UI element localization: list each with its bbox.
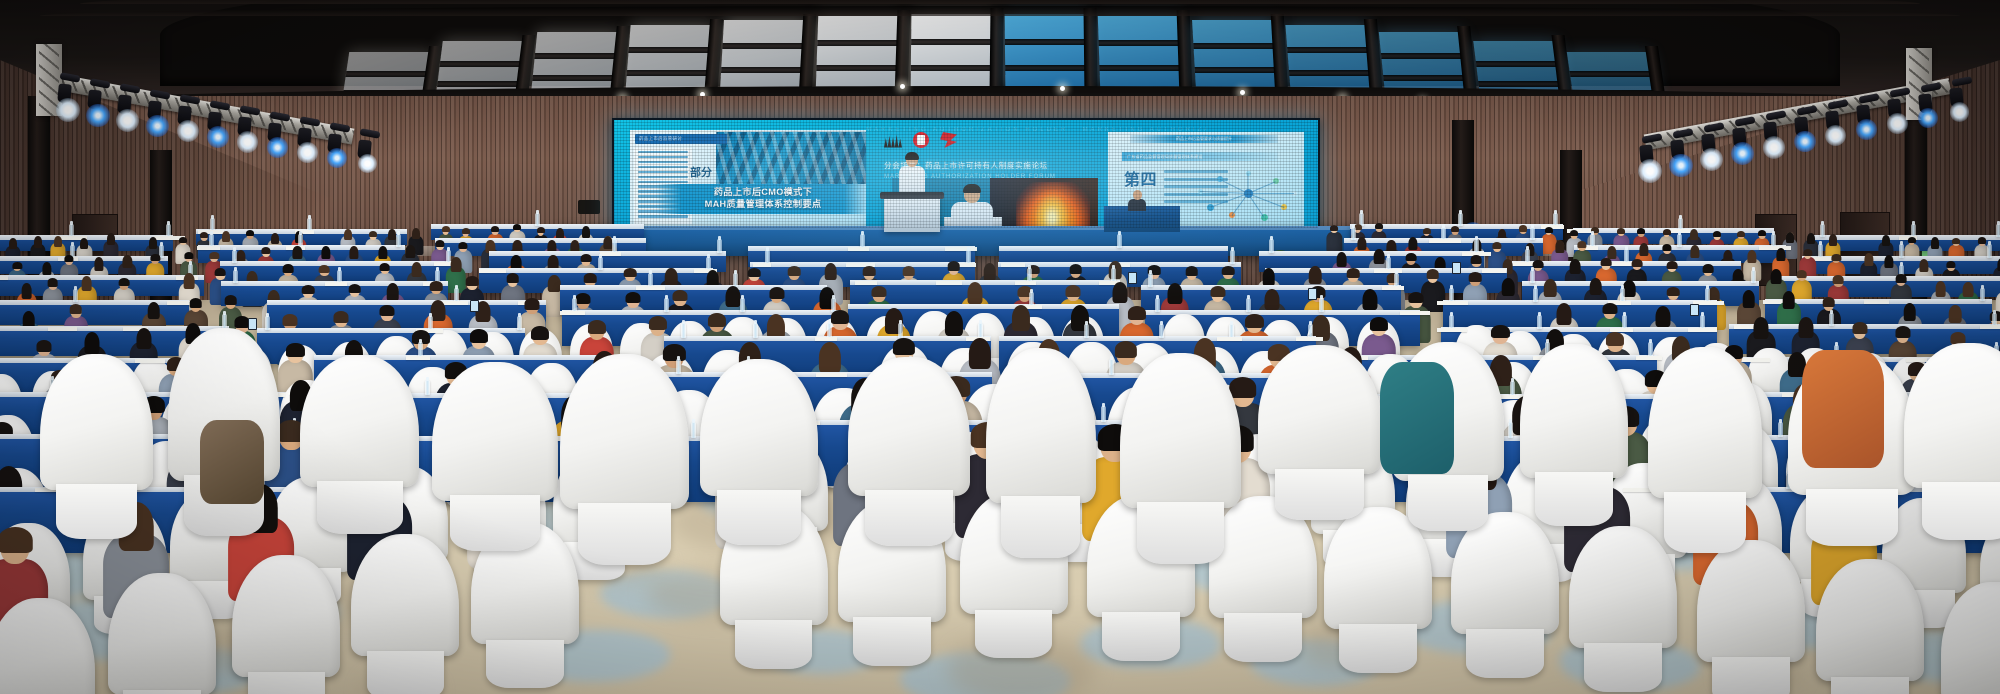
audience-member-hair [1330,225,1338,231]
smartphone-icon [248,318,257,330]
water-bottle [978,323,983,338]
water-bottle [1622,315,1627,329]
red-circle-emblem-icon [913,132,929,148]
water-bottle [717,239,722,252]
audience-member-hair [388,229,396,240]
audience-member-hair [1606,332,1624,346]
audience-member-hair [1690,229,1698,240]
led-surface: MARKETING AUTHORIZATION HOLDER · MARKETI… [614,120,1318,228]
audience-member-hair [1829,234,1837,245]
audience-member-hair [575,293,590,304]
water-bottle [1111,268,1116,282]
slide-title-line-1: 药品上市后CMO模式下 [656,187,866,199]
audience-member-hair [649,316,667,330]
water-bottle [1101,406,1106,422]
white-lectern [884,196,940,232]
audience-member-hair [349,246,358,259]
audience-member-hair [1885,255,1894,268]
audience-member-hair [200,232,208,238]
audience-member-hair [95,257,104,270]
water-bottle [612,239,617,252]
audience-member-hair [1713,231,1721,237]
phoenix-flame-graphic-icon [1016,182,1090,230]
water-bottle [1508,422,1513,438]
audience-member-hair [189,298,202,308]
audience-member-hair [1229,377,1257,398]
audience-member-hair [1852,322,1867,333]
audience-member-hair [1978,237,1986,243]
audience-member-hair [466,276,479,286]
audience-member-hair [435,240,444,247]
audience-member-hair [1637,228,1645,234]
document-paper [479,269,506,273]
audience-member-hair [1570,230,1578,236]
lectern-laptop [880,192,944,199]
skylight-panel [910,14,995,90]
audience-member-hair [513,224,521,230]
audience-member-hair [107,233,115,244]
stage-light-blue-icon [1669,154,1693,178]
document-paper [197,246,220,250]
water-bottle [765,250,770,264]
ceiling-beam [989,8,1003,96]
audience-member-hair [1882,235,1890,246]
audience-member-hair [969,338,991,370]
audience-member-hair [0,527,32,553]
audience-member-hair [1786,232,1794,243]
water-bottle [681,323,686,338]
audience-member-hair [1796,270,1807,278]
water-bottle [1027,268,1032,282]
audience-member-hair [286,343,304,357]
skylight-panel [625,25,714,92]
audience-member-hair [788,266,801,276]
slide-section-marker: 部分 [690,164,712,180]
banquet-table [267,300,546,330]
ceiling-downlight [1060,86,1065,91]
audience-member-hair [13,262,22,269]
smartphone-icon [1308,288,1317,300]
audience-member-hair [1570,259,1581,274]
ceiling-beam [894,10,910,95]
audience-member-hair [1362,289,1377,310]
audience-member-hair [450,257,461,272]
water-bottle [1700,315,1705,329]
slide-header-tag-text: 药品上市后监管研讨 [635,134,727,144]
skylight-panel [720,20,808,90]
document-paper [1437,328,1467,332]
water-bottle [831,298,836,312]
audience-member-hair [1667,287,1680,297]
water-bottle [1029,292,1034,306]
slide-title-line-2: MAH质量管理体系控制要点 [656,199,866,211]
audience-member-hair [271,233,279,244]
audience-member-hair [1555,240,1564,253]
audience-member-hair [136,328,151,349]
audience-member-hair [588,320,606,334]
audience-member-hair [1776,248,1785,261]
skylight-panel [1285,25,1374,92]
document-paper [816,373,847,377]
audience-member-hair [1771,269,1782,284]
audience-member-hair [1374,249,1385,264]
draped-bag [200,420,264,504]
audience-member-hair [537,227,545,233]
audience-member-hair [1832,254,1841,261]
water-bottle [860,234,865,247]
audience-member-hair [1357,237,1366,250]
audience-member-hair [548,275,561,293]
audience-member-hair [54,236,62,247]
document-paper [1636,356,1662,360]
audience-member-hair [1947,261,1956,268]
audience-member-hair [506,273,519,283]
water-bottle [1148,273,1153,287]
network-edge [1248,174,1249,194]
water-bottle [1458,213,1463,226]
audience-member-hair [824,263,837,281]
audience-member-hair [1602,303,1617,314]
smartphone-icon [1690,304,1699,316]
stage-front-lip [560,226,1380,230]
audience-member-hair [1347,268,1360,278]
audience-member-hair [34,236,42,247]
water-bottle [1308,324,1313,339]
audience-member-hair [215,268,226,276]
audience-member-hair [1519,225,1527,231]
audience-member-hair [1545,227,1553,233]
document-paper [560,311,584,315]
audience-member-hair [1012,305,1030,331]
audience-member-hair [1663,229,1671,235]
document-paper [0,276,8,280]
audience-member-hair [9,238,17,249]
audience-member-hair [458,242,467,249]
water-bottle [1537,315,1542,329]
audience-member-hair [1069,264,1082,274]
audience-member-hair [1115,341,1137,358]
left-presentation-slide: 药品上市后监管研讨 部分 药品上市后CMO模式下 MAH质量管理体系控制要点 [630,130,866,226]
audience-member-hair [261,247,270,254]
audience-member-hair [1577,241,1586,248]
water-bottle [1820,224,1825,237]
audience-member-hair [831,310,849,324]
audience-member-hair [1557,303,1572,324]
table-top-cloth [999,246,1228,251]
document-paper [1429,239,1460,243]
water-bottle [1229,324,1234,339]
audience-member-hair [1753,317,1768,338]
water-bottle [966,250,971,264]
audience-member-hair [1113,282,1128,303]
banquet-chair [1569,526,1677,648]
audience-member-hair [123,255,132,268]
document-paper [1015,281,1035,285]
document-paper [936,281,962,285]
water-bottle [1117,234,1122,247]
audience-member-hair [625,292,640,303]
audience-member-hair [1663,244,1672,251]
document-paper [1296,337,1324,341]
audience-member-hair [491,226,499,232]
slide-title-block: 药品上市后CMO模式下 MAH质量管理体系控制要点 [656,184,866,214]
audience-member-hair [1491,325,1509,339]
audience-member-hair [222,231,230,242]
conference-hall-photo: MARKETING AUTHORIZATION HOLDER · MARKETI… [0,0,2000,694]
audience-member-hair [1798,317,1813,338]
wall-speaker [578,200,600,214]
water-bottle [454,288,459,302]
foreground-banquet-chair [848,357,970,496]
water-bottle [898,323,903,338]
table-top-cloth [1443,300,1717,305]
audience-member-hair [1903,303,1916,321]
audience-member-hair [1822,297,1835,307]
audience-member-hair [1691,245,1700,258]
water-bottle [233,270,238,284]
audience-member-hair [430,281,443,291]
audience-member-hair [379,263,390,271]
network-edge [1248,193,1294,194]
audience-member-hair [863,266,876,276]
audience-member-hair [1920,259,1929,272]
water-bottle [1109,359,1114,374]
audience-member-hair [1833,275,1844,283]
audience-member-hair [1748,250,1757,263]
water-bottle [598,257,603,271]
water-bottle [428,316,433,330]
audience-member-hair [246,230,254,236]
moderator-body [1128,199,1146,211]
water-bottle [676,359,681,374]
audience-member-hair [387,283,400,301]
audience-member-hair [1222,266,1235,276]
stage-light-blue-icon [86,104,110,128]
audience-member-hair [319,265,330,273]
table-top-cloth [0,275,204,280]
audience-member-hair [1666,261,1677,269]
audience-member-hair [412,228,420,239]
water-bottle [1980,288,1985,302]
audience-member-hair [1469,272,1482,282]
stage-light-blue-icon [1731,142,1754,165]
water-bottle [1899,244,1904,257]
stage-light-blue-icon [207,126,229,148]
audience-member-hair [1471,255,1482,263]
audience-member-hair [64,255,73,262]
skylight-panel [1379,32,1469,96]
audience-member-hair [968,282,983,303]
audience-member-hair [1632,259,1643,267]
audience-member-hair [406,245,415,258]
skylight-panel [1005,14,1090,90]
audience-member-hair [322,246,331,259]
main-led-wall: MARKETING AUTHORIZATION HOLDER · MARKETI… [612,118,1320,230]
network-node-diagram-icon [1196,167,1300,225]
audience-member-hair [1589,278,1602,296]
smartphone-icon [1452,262,1461,274]
audience-member-hair [80,238,88,249]
water-bottle [1510,381,1515,396]
water-bottle [337,270,342,284]
audience-member-hair [708,313,726,327]
audience-member-hair [179,237,187,243]
audience-member-hair [119,278,130,286]
ceiling-downlight [900,84,905,89]
water-bottle [425,380,430,395]
led-logo-row [884,132,957,148]
stage-light-blue-icon [1856,119,1877,140]
audience-member-hair [524,298,539,309]
audience-member-hair [462,228,470,234]
audience-member-hair [665,268,678,286]
audience-member-hair [1908,237,1916,243]
audience-member-hair [1533,260,1544,268]
audience-member-hair [184,273,195,288]
water-bottle [1246,298,1251,312]
slide-photo-banner [716,132,866,184]
audience-member-hair [37,340,52,351]
audience-member-hair [42,262,51,275]
red-flame-emblem-icon [940,132,957,148]
document-paper [815,337,837,341]
document-paper [406,356,431,360]
audience-member-hair [1375,223,1383,229]
document-paper [1864,300,1889,304]
audience-member-hair [1742,290,1755,308]
audience-member-hair [1265,289,1280,310]
document-paper [1400,311,1430,315]
water-bottle [572,298,577,312]
audience-member-hair [369,231,377,237]
audience-member-hair [1931,237,1939,248]
audience-member-hair [1066,285,1081,296]
stage-light-blue-icon [1794,131,1816,153]
audience-member-hair [1895,326,1910,337]
audience-member-hair [344,229,352,240]
audience-member [1327,225,1343,252]
audience-member-hair [1703,264,1714,272]
audience-member-hair [302,285,315,295]
audience-member-hair [1336,252,1347,267]
water-bottle [827,323,832,338]
smartphone-icon [1128,272,1137,284]
audience-member-hair [1896,274,1907,282]
audience-member-hair [663,344,685,361]
audience-member-hair [1949,305,1962,323]
audience-member-hair [1492,242,1501,249]
audience-member-hair [1758,230,1766,236]
audience-member-hair [584,273,597,283]
audience-member-hair [1185,266,1198,276]
audience-member-hair [411,262,422,277]
audience-member-hair [1370,317,1388,331]
audience-member-hair [1544,279,1557,297]
audience-member-hair [1656,306,1671,327]
audience-member-hair [624,268,637,278]
stage-light-white-icon [358,154,378,174]
skylight-panel [1192,20,1280,90]
document-paper [945,247,977,251]
audience-member-hair [1601,258,1612,266]
audience-member-hair [1782,291,1795,309]
water-bottle [418,342,423,357]
audience-member-hair [871,286,886,297]
stage-light-white-icon [1950,102,1970,122]
moderator-person [1128,190,1146,210]
audience-member-hair [1639,243,1648,256]
live-feed-speaker-hair [963,184,981,193]
water-bottle [1677,234,1682,247]
audience-member-hair [210,252,219,259]
water-bottle [1449,315,1454,329]
audience-member-hair [769,287,784,298]
water-bottle [1155,298,1160,312]
audience-member-hair [945,311,963,337]
audience-member-hair [70,304,83,314]
document-paper [1382,286,1403,290]
foreground-banquet-chair [1258,345,1381,473]
audience-member-hair [1963,282,1974,297]
audience-member-hair [902,266,915,276]
audience-member-hair [673,290,688,301]
banquet-chair [1816,559,1924,681]
ceiling-downlight [1240,90,1245,95]
audience-member-hair [1803,249,1812,256]
organizer-logo-mark-icon [884,133,902,148]
network-edge [1200,191,1248,194]
stage-light-blue-icon [267,137,288,158]
draped-coat [1802,350,1884,468]
document-paper [855,281,877,285]
audience-member-hair [293,246,302,259]
skylight-panel [815,16,901,89]
stage-light-blue-icon [1918,108,1938,128]
water-bottle [1530,227,1535,240]
ceiling-arc-rail [80,0,1920,4]
water-bottle [1530,270,1535,284]
water-bottle [740,298,745,312]
water-bottle [1987,244,1992,257]
water-bottle [1394,273,1399,287]
document-paper [48,327,77,331]
audience-member-hair [1210,286,1225,297]
audience-member-body [1327,232,1342,252]
water-bottle [1319,298,1324,312]
document-paper [848,247,869,251]
water-bottle [1159,324,1164,339]
audience-member-hair [1245,314,1263,328]
moderator-head [1133,190,1142,200]
skylight-panel [1098,16,1184,89]
smartphone-icon [470,300,479,312]
audience-member-hair [1408,292,1423,303]
ceiling-beam [1084,8,1098,96]
session-line-text: 分会场二：药品上市许可持有人制度实施论坛 [884,160,1184,171]
audience-member-hair [819,342,841,374]
water-bottle [1474,239,1479,252]
audience-member-hair [983,263,996,281]
water-bottle [1084,324,1089,339]
document-paper [1980,325,2000,329]
water-bottle [265,316,270,330]
audience-member-hair [149,237,157,248]
water-bottle [1829,313,1834,327]
water-bottle [1751,270,1756,284]
audience-member-hair [470,329,488,343]
document-paper [1688,328,1717,332]
water-bottle [664,298,669,312]
